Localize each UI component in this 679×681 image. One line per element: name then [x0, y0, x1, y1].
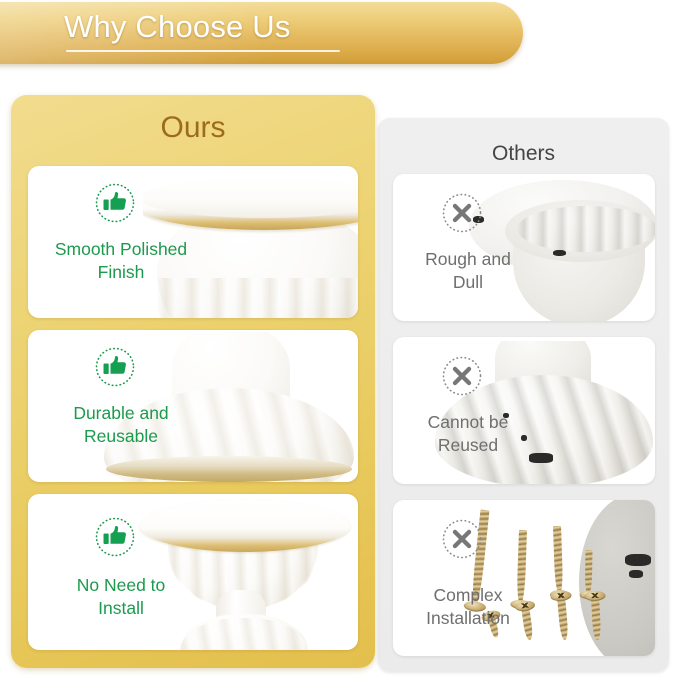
ours-photo-3	[138, 494, 354, 650]
thumbs-up-icon	[94, 182, 136, 224]
thumbs-up-icon	[94, 516, 136, 558]
others-panel-title: Others	[378, 142, 669, 166]
cross-x-icon	[441, 192, 483, 234]
cross-x-icon	[441, 355, 483, 397]
page-title: Why Choose Us	[64, 9, 291, 45]
ours-row-3: No Need to Install	[28, 494, 358, 650]
thumbs-up-icon	[94, 346, 136, 388]
others-row-1: Rough and Dull	[393, 174, 655, 321]
ours-row-3-label: No Need to Install	[28, 574, 214, 621]
ours-row-2: Durable and Reusable	[28, 330, 358, 482]
others-row-2-label: Cannot be Reused	[393, 411, 543, 458]
others-row-1-label: Rough and Dull	[393, 248, 543, 295]
others-row-3: Complex Installation	[393, 500, 655, 656]
ours-panel-title: Ours	[11, 111, 375, 145]
ours-row-2-label: Durable and Reusable	[28, 402, 214, 449]
ours-row-1: Smooth Polished Finish	[28, 166, 358, 318]
title-underline	[66, 50, 340, 52]
others-row-3-label: Complex Installation	[393, 584, 543, 631]
others-row-2: Cannot be Reused	[393, 337, 655, 484]
ours-row-1-label: Smooth Polished Finish	[28, 238, 214, 285]
others-photo-3	[455, 500, 655, 656]
cross-x-icon	[441, 518, 483, 560]
